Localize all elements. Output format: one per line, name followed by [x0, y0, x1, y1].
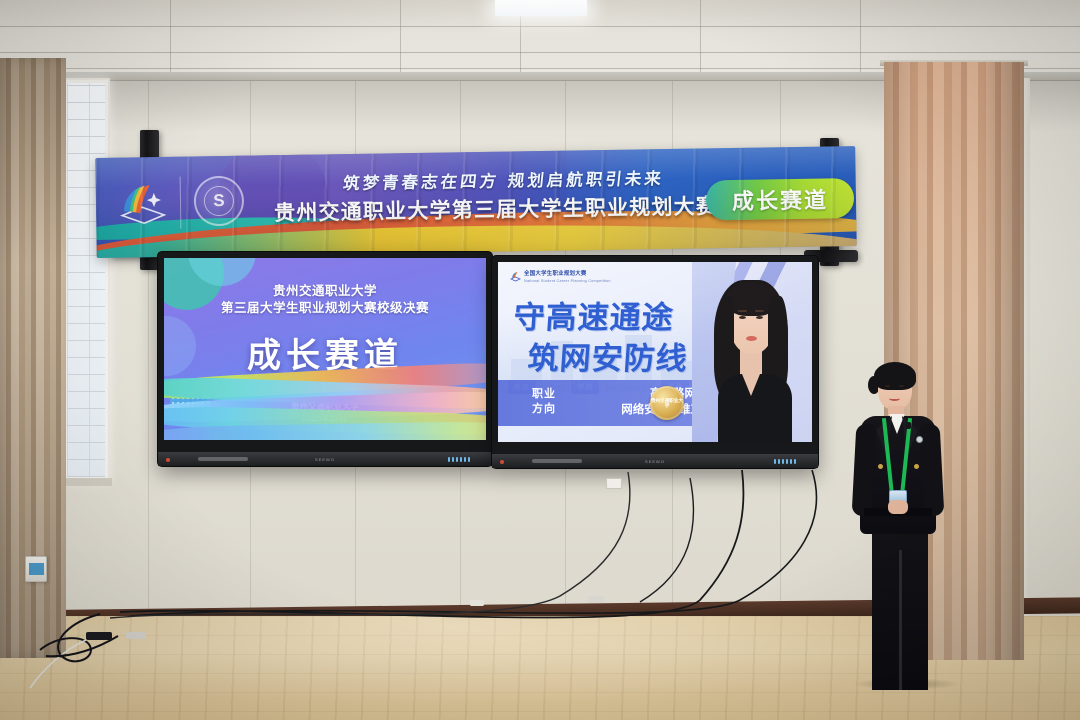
- left-display[interactable]: 贵州交通职业大学 第三届大学生职业规划大赛校级决赛 成长赛道 贵州交通职业大学 …: [158, 252, 492, 466]
- ceiling-light-panel-icon: [495, 0, 587, 16]
- right-display-screen[interactable]: 全国大学生职业规划大赛 National Student Career Plan…: [498, 262, 812, 442]
- bezel-control-dots[interactable]: [774, 459, 796, 464]
- left-display-bezel: SEEWO: [158, 452, 492, 466]
- right-slide: 全国大学生职业规划大赛 National Student Career Plan…: [498, 262, 812, 442]
- right-slide-header-en: National Student Career Planning Competi…: [524, 279, 611, 283]
- left-display-brand: SEEWO: [315, 457, 335, 462]
- calligraphy-line-1: 守高速通途: [512, 292, 720, 337]
- right-display-bezel: SEEWO: [492, 454, 818, 468]
- presenter-badge-pin-icon: [916, 436, 923, 443]
- banner-track-badge: 成长赛道: [706, 178, 855, 220]
- right-slide-header-cn: 全国大学生职业规划大赛: [524, 269, 611, 277]
- career-direction-label: 职业 方向: [532, 387, 556, 417]
- presenter-microphone-icon: [906, 422, 911, 429]
- presenter-hair: [874, 362, 916, 390]
- window-sill: [60, 478, 112, 486]
- right-slide-header: 全国大学生职业规划大赛 National Student Career Plan…: [510, 269, 611, 283]
- right-display-brand: SEEWO: [645, 459, 665, 464]
- left-slide: 贵州交通职业大学 第三届大学生职业规划大赛校级决赛 成长赛道 贵州交通职业大学 …: [164, 258, 486, 440]
- presenter: [846, 360, 958, 690]
- bezel-strip: [532, 459, 582, 463]
- power-outlet-icon[interactable]: [606, 478, 622, 489]
- bezel-control-dots[interactable]: [448, 457, 470, 462]
- exterior-brick-wall: [67, 83, 105, 477]
- right-slide-calligraphy: 守高速通途 筑网安防线: [514, 292, 719, 378]
- window: [62, 78, 110, 482]
- gold-medal-seal-icon: 贵州交通职业大学: [650, 386, 684, 420]
- right-display[interactable]: 全国大学生职业规划大赛 National Student Career Plan…: [492, 256, 818, 468]
- venue-photo: S 筑梦青春志在四方 规划启航职引未来 贵州交通职业大学第三届大学生职业规划大赛…: [0, 0, 1080, 720]
- left-display-screen[interactable]: 贵州交通职业大学 第三届大学生职业规划大赛校级决赛 成长赛道 贵州交通职业大学 …: [164, 258, 486, 440]
- power-indicator-icon: [166, 458, 170, 462]
- slide-presenter-photo: [692, 262, 812, 442]
- banner-track-badge-label: 成长赛道: [732, 182, 829, 216]
- left-slide-ribbon-decoration: [164, 356, 486, 440]
- event-banner: S 筑梦青春志在四方 规划启航职引未来 贵州交通职业大学第三届大学生职业规划大赛…: [95, 146, 856, 258]
- bezel-strip: [198, 457, 248, 461]
- presenter-hands: [888, 500, 908, 514]
- power-indicator-icon: [500, 460, 504, 464]
- rainbow-book-logo-icon: [116, 181, 171, 230]
- left-slide-line2: 第三届大学生职业规划大赛校级决赛: [164, 297, 486, 316]
- wall-control-box-icon[interactable]: [25, 556, 47, 582]
- competition-logo-icon: [510, 269, 521, 280]
